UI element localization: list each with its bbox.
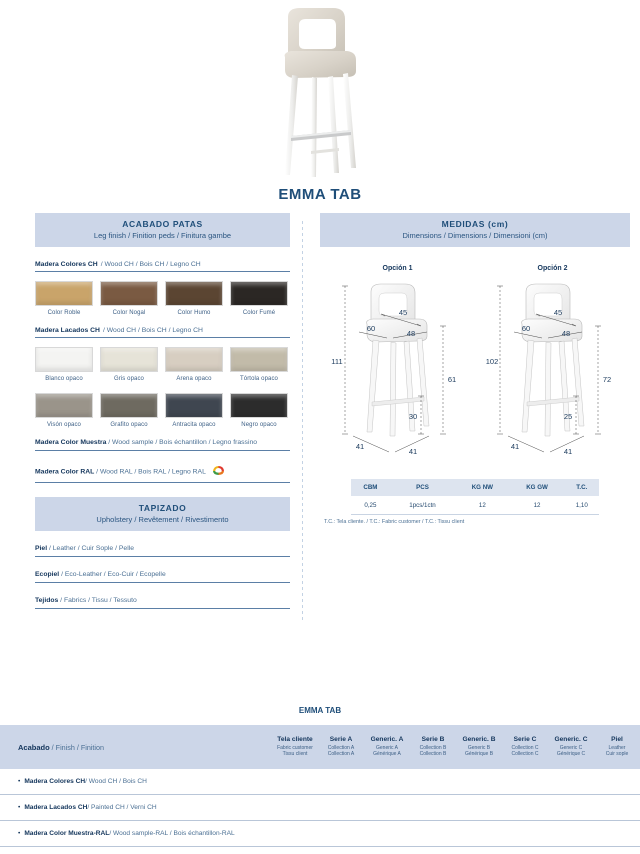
finish-panel: ACABADO PATAS Leg finish / Finition peds… — [0, 213, 300, 623]
swatch-label: Color Fumé — [230, 310, 288, 316]
spec-table-header-cell: PCS — [390, 479, 455, 497]
upholstery-title: TAPIZADO — [39, 503, 286, 513]
swatch-label: Negro opaco — [230, 422, 288, 428]
bullet-icon: • — [18, 804, 20, 811]
price-column-c3: Tissu client — [272, 751, 318, 758]
swatch-label: Blanco opaco — [35, 376, 93, 382]
price-column-c2: Collection A — [318, 745, 364, 752]
swatch-item[interactable]: Color Roble — [35, 281, 93, 316]
dimension-option-title: Opción 2 — [475, 265, 630, 272]
color-swatch[interactable] — [230, 281, 288, 306]
acabado-label-bold: Acabado — [18, 743, 50, 752]
dimension-option-1: Opción 1 111 45 60 48 61 30 41 41 — [320, 265, 475, 469]
swatch-item[interactable]: Visón opaco — [35, 393, 93, 428]
color-swatch[interactable] — [230, 347, 288, 372]
dimension-option-title: Opción 1 — [320, 265, 475, 272]
dimension-drawing: 111 45 60 48 61 30 41 41 — [320, 274, 475, 469]
price-column-c2: Leather — [594, 745, 640, 752]
spec-table-header-row: CBMPCSKG NWKG GWT.C. — [351, 479, 599, 497]
swatch-label: Tórtola opaco — [230, 376, 288, 382]
price-column-c1: Generic. A — [364, 736, 410, 745]
swatch-label: Gris opaco — [100, 376, 158, 382]
svg-text:60: 60 — [521, 324, 529, 333]
color-swatch[interactable] — [165, 393, 223, 418]
svg-text:48: 48 — [561, 329, 569, 338]
swatch-item[interactable]: Color Humo — [165, 281, 223, 316]
price-table-row[interactable]: •Madera Lacados CH / Painted CH / Verni … — [0, 795, 640, 821]
dimensions-panel: MEDIDAS (cm) Dimensions / Dimensions / D… — [300, 213, 640, 623]
lacquered-heading: Madera Lacados CH / Wood CH / Bois CH / … — [35, 327, 290, 338]
spec-table-header-cell: T.C. — [565, 479, 599, 497]
dimension-drawings: Opción 1 111 45 60 48 61 30 41 41 Opción… — [320, 265, 630, 469]
price-column-header[interactable]: Generic. BGeneric BGénérique B — [456, 736, 502, 758]
price-column-c3: Collection A — [318, 751, 364, 758]
price-column-c3: Cuir sople — [594, 751, 640, 758]
leg-finish-band: ACABADO PATAS Leg finish / Finition peds… — [35, 213, 290, 247]
price-row-label: Madera Lacados CH — [24, 804, 87, 811]
swatch-label: Color Humo — [165, 310, 223, 316]
svg-text:60: 60 — [366, 324, 374, 333]
price-table-row-header: Acabado / Finish / Finition — [0, 743, 272, 752]
swatch-label: Antracita opaco — [165, 422, 223, 428]
swatch-label: Color Roble — [35, 310, 93, 316]
color-swatch[interactable] — [165, 347, 223, 372]
svg-text:41: 41 — [510, 442, 518, 451]
color-swatch[interactable] — [100, 347, 158, 372]
upholstery-item[interactable]: Ecopiel / Eco-Leather / Eco-Cuir / Ecope… — [35, 571, 290, 583]
leg-finish-title: ACABADO PATAS — [39, 219, 286, 229]
wood-sample-label-rest: / Wood sample / Bois échantillon / Legno… — [106, 439, 257, 446]
upholstery-item-translations: / Eco-Leather / Eco-Cuir / Ecopelle — [59, 571, 166, 578]
wood-colors-label-bold: Madera Colores CH — [35, 261, 98, 268]
color-swatch[interactable] — [100, 281, 158, 306]
svg-text:30: 30 — [408, 412, 416, 421]
swatch-item[interactable]: Tórtola opaco — [230, 347, 288, 382]
price-column-header[interactable]: Serie ACollection ACollection A — [318, 736, 364, 758]
upholstery-item-label: Ecopiel — [35, 571, 59, 578]
swatch-label: Color Nogal — [100, 310, 158, 316]
price-column-c1: Piel — [594, 736, 640, 745]
lacquered-swatches-row2: Visón opacoGrafito opacoAntracita opacoN… — [35, 393, 290, 428]
price-column-header[interactable]: Tela clienteFabric customerTissu client — [272, 736, 318, 758]
price-column-c3: Générique B — [456, 751, 502, 758]
price-column-c1: Serie B — [410, 736, 456, 745]
panel-divider — [302, 221, 303, 621]
spec-table-header-cell: CBM — [351, 479, 390, 497]
wood-ral-label-rest: / Wood RAL / Bois RAL / Legno RAL — [94, 468, 205, 475]
color-swatch[interactable] — [35, 393, 93, 418]
svg-text:45: 45 — [553, 308, 561, 317]
color-swatch[interactable] — [35, 347, 93, 372]
leg-finish-subtitle: Leg finish / Finition peds / Finitura ga… — [39, 231, 286, 240]
shipping-spec-table: CBMPCSKG NWKG GWT.C. 0,251pcs/1ctn12121,… — [351, 479, 599, 515]
bullet-icon: • — [18, 830, 20, 837]
price-column-c2: Fabric customer — [272, 745, 318, 752]
lacquered-swatches-row1: Blanco opacoGris opacoArena opacoTórtola… — [35, 347, 290, 382]
svg-text:45: 45 — [398, 308, 406, 317]
upholstery-item-label: Piel — [35, 545, 47, 552]
acabado-label-rest: / Finish / Finition — [50, 743, 104, 752]
swatch-item[interactable]: Blanco opaco — [35, 347, 93, 382]
price-column-c3: Générique C — [548, 751, 594, 758]
price-column-c1: Generic. B — [456, 736, 502, 745]
wood-colors-heading: Madera Colores CH / Wood CH / Bois CH / … — [35, 261, 290, 272]
color-swatch[interactable] — [165, 281, 223, 306]
price-column-c1: Tela cliente — [272, 736, 318, 745]
dimension-option-2: Opción 2 102 45 60 48 72 25 41 41 — [475, 265, 630, 469]
wood-colors-swatches: Color RobleColor NogalColor HumoColor Fu… — [35, 281, 290, 316]
spec-table-cell: 1,10 — [565, 497, 599, 515]
spec-table-note: T.C.: Tela cliente. / T.C.: Fabric custo… — [324, 519, 630, 525]
product-photo — [0, 0, 640, 180]
swatch-label: Visón opaco — [35, 422, 93, 428]
swatch-item[interactable]: Grafito opaco — [100, 393, 158, 428]
price-row-translations: / Painted CH / Verni CH — [87, 804, 156, 811]
svg-text:41: 41 — [355, 442, 363, 451]
svg-text:25: 25 — [563, 412, 571, 421]
palette-icon — [212, 465, 225, 478]
price-row-translations: / Wood sample-RAL / Bois échantillon-RAL — [109, 830, 234, 837]
price-row-label: Madera Color Muestra-RAL — [24, 830, 109, 837]
svg-text:111: 111 — [331, 357, 342, 366]
spec-table-header-cell: KG NW — [455, 479, 509, 497]
lacquered-label-bold: Madera Lacados CH — [35, 327, 100, 334]
price-column-c1: Serie C — [502, 736, 548, 745]
page-title: EMMA TAB — [0, 186, 640, 203]
price-table-title: EMMA TAB — [0, 706, 640, 715]
price-column-c2: Collection B — [410, 745, 456, 752]
spec-table-cell: 0,25 — [351, 497, 390, 515]
price-column-c1: Serie A — [318, 736, 364, 745]
bullet-icon: • — [18, 778, 20, 785]
price-row-translations: / Wood CH / Bois CH — [85, 778, 147, 785]
swatch-item[interactable]: Color Nogal — [100, 281, 158, 316]
spec-table-row: 0,251pcs/1ctn12121,10 — [351, 497, 599, 515]
svg-text:72: 72 — [602, 375, 610, 384]
color-swatch[interactable] — [100, 393, 158, 418]
price-column-c2: Generic C — [548, 745, 594, 752]
dimension-drawing: 102 45 60 48 72 25 41 41 — [475, 274, 630, 469]
svg-text:41: 41 — [408, 447, 416, 456]
price-column-c3: Collection B — [410, 751, 456, 758]
price-column-header[interactable]: Serie BCollection BCollection B — [410, 736, 456, 758]
swatch-label: Arena opaco — [165, 376, 223, 382]
price-table-header: Acabado / Finish / Finition Tela cliente… — [0, 725, 640, 769]
upholstery-item[interactable]: Tejidos / Fabrics / Tissu / Tessuto — [35, 597, 290, 609]
price-column-c2: Generic B — [456, 745, 502, 752]
price-table-columns: Tela clienteFabric customerTissu clientS… — [272, 736, 640, 758]
wood-ral-label-bold: Madera Color RAL — [35, 468, 94, 475]
upholstery-subtitle: Upholstery / Revêtement / Rivestimento — [39, 515, 286, 524]
price-table: EMMA TAB Acabado / Finish / Finition Tel… — [0, 706, 640, 847]
price-column-c2: Collection C — [502, 745, 548, 752]
spec-table-cell: 12 — [455, 497, 509, 515]
color-swatch[interactable] — [230, 393, 288, 418]
price-column-header[interactable]: PielLeatherCuir sople — [594, 736, 640, 758]
swatch-item[interactable]: Arena opaco — [165, 347, 223, 382]
wood-sample-label-bold: Madera Color Muestra — [35, 439, 106, 446]
spec-table-cell: 12 — [510, 497, 565, 515]
swatch-item[interactable]: Negro opaco — [230, 393, 288, 428]
wood-sample-item: Madera Color Muestra / Wood sample / Boi… — [35, 439, 290, 451]
price-table-body: •Madera Colores CH / Wood CH / Bois CH•M… — [0, 769, 640, 847]
swatch-item[interactable]: Gris opaco — [100, 347, 158, 382]
price-column-c3: Générique A — [364, 751, 410, 758]
stool-image — [255, 5, 385, 175]
price-table-row[interactable]: •Madera Color Muestra-RAL / Wood sample-… — [0, 821, 640, 847]
upholstery-item[interactable]: Piel / Leather / Cuir Sople / Pelle — [35, 545, 290, 557]
wood-ral-item: Madera Color RAL / Wood RAL / Bois RAL /… — [35, 465, 290, 483]
svg-text:61: 61 — [447, 375, 455, 384]
color-swatch[interactable] — [35, 281, 93, 306]
dimensions-subtitle: Dimensions / Dimensions / Dimensioni (cm… — [324, 231, 626, 240]
lacquered-label-rest: / Wood CH / Bois CH / Legno CH — [103, 327, 203, 334]
price-column-c1: Generic. C — [548, 736, 594, 745]
upholstery-item-label: Tejidos — [35, 597, 58, 604]
price-column-c2: Generic A — [364, 745, 410, 752]
price-row-label: Madera Colores CH — [24, 778, 85, 785]
swatch-label: Grafito opaco — [100, 422, 158, 428]
price-column-header[interactable]: Serie CCollection CCollection C — [502, 736, 548, 758]
upholstery-band: TAPIZADO Upholstery / Revêtement / Rives… — [35, 497, 290, 531]
swatch-item[interactable]: Antracita opaco — [165, 393, 223, 428]
dimensions-band: MEDIDAS (cm) Dimensions / Dimensions / D… — [320, 213, 630, 247]
svg-text:41: 41 — [563, 447, 571, 456]
upholstery-items: Piel / Leather / Cuir Sople / PelleEcopi… — [35, 545, 290, 609]
price-column-header[interactable]: Generic. AGeneric AGénérique A — [364, 736, 410, 758]
swatch-item[interactable]: Color Fumé — [230, 281, 288, 316]
svg-text:48: 48 — [406, 329, 414, 338]
price-table-row[interactable]: •Madera Colores CH / Wood CH / Bois CH — [0, 769, 640, 795]
upholstery-item-translations: / Leather / Cuir Sople / Pelle — [47, 545, 134, 552]
upholstery-item-translations: / Fabrics / Tissu / Tessuto — [58, 597, 136, 604]
dimensions-title: MEDIDAS (cm) — [324, 219, 626, 229]
price-column-c3: Collection C — [502, 751, 548, 758]
svg-text:102: 102 — [485, 357, 498, 366]
price-column-header[interactable]: Generic. CGeneric CGénérique C — [548, 736, 594, 758]
spec-table-header-cell: KG GW — [510, 479, 565, 497]
spec-table-cell: 1pcs/1ctn — [390, 497, 455, 515]
wood-colors-label-rest: / Wood CH / Bois CH / Legno CH — [101, 261, 201, 268]
